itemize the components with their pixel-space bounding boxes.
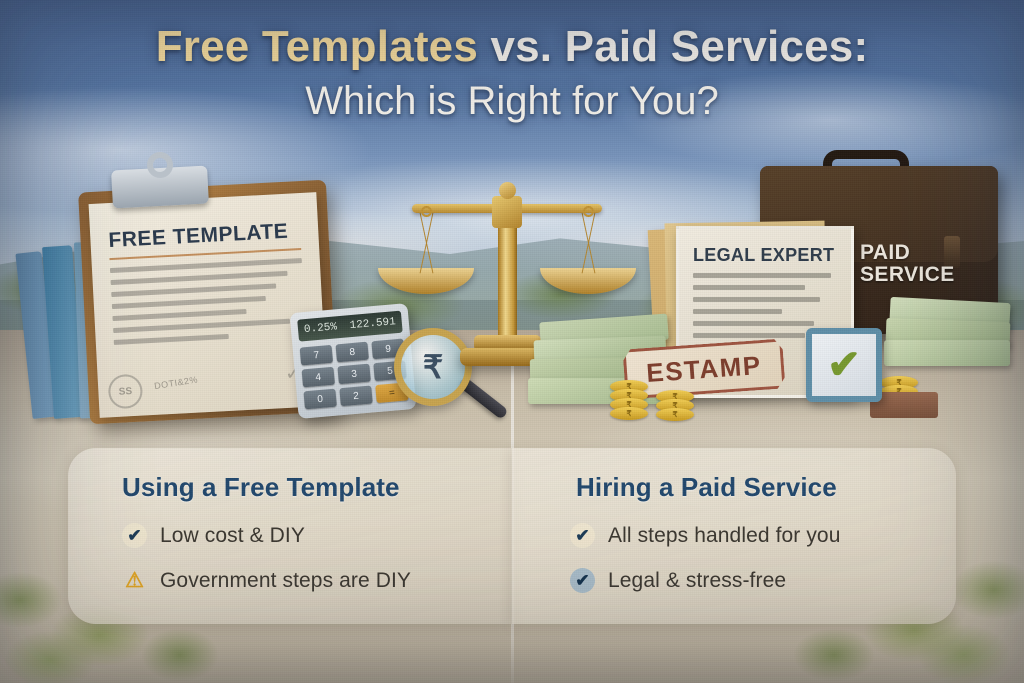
title-highlight: Free Templates [156,22,478,71]
document-text-line [112,309,246,321]
list-item-label: All steps handled for you [608,524,840,548]
scale-finial [499,182,516,199]
scale-head [492,196,522,228]
document-text-line [114,334,229,345]
document-text-line [111,271,288,285]
calculator-key: 4 [302,367,335,388]
document-text-line [112,296,266,309]
briefcase-label: PAID SERVICE [860,242,990,287]
benefit-list-free-template: ✔ Low cost & DIY ⚠ Government steps are … [122,523,512,593]
title-rest: vs. Paid Services: [478,22,868,71]
document-text-line [693,321,814,326]
panel-free-template: Using a Free Template ✔ Low cost & DIY ⚠… [68,448,512,624]
briefcase-label-line-2: SERVICE [860,264,990,286]
infographic-canvas: Free Templates vs. Paid Services: Which … [0,0,1024,683]
document-text-line [693,309,782,314]
document-text-line [693,273,831,278]
calculator-display-left: 0.25% [304,321,338,336]
green-check-icon: ✔ [827,345,861,385]
scale-column [498,220,517,340]
calculator-key: 3 [337,364,370,385]
warning-triangle-icon: ⚠ [122,568,147,593]
document-text-line [693,333,805,338]
free-template-document: FREE TEMPLATE SS DOTI&2% ✓ [89,192,328,418]
calculator-display: 0.25% 122.591 [297,311,403,342]
briefcase-label-line-1: PAID [860,242,990,264]
check-icon: ✔ [122,523,147,548]
title-line-2: Which is Right for You? [0,80,1024,122]
list-item-label: Government steps are DIY [160,569,411,593]
coin: ₹ [610,407,648,420]
document-text-line [111,283,276,297]
scale-hook [421,206,432,217]
check-icon: ✔ [570,568,595,593]
calculator-keypad: 7 8 9 4 3 5 0 2 = [300,339,409,410]
document-text-line [693,297,820,302]
document-stamp-text: DOTI&2% [154,374,199,391]
list-item-label: Low cost & DIY [160,524,305,548]
legal-expert-heading: LEGAL EXPERT [693,245,837,266]
free-template-heading: FREE TEMPLATE [108,219,301,253]
list-item-label: Legal & stress-free [608,569,786,593]
document-seal-icon: SS [108,374,144,410]
list-item: ✔ All steps handled for you [570,523,956,548]
document-text-line [693,285,805,290]
calculator-display-right: 122.591 [349,316,396,332]
coin: ₹ [656,408,694,421]
title-line-1: Free Templates vs. Paid Services: [0,24,1024,70]
title-block: Free Templates vs. Paid Services: Which … [0,24,1024,122]
list-item: ✔ Legal & stress-free [570,568,956,593]
scale-hook [583,206,594,217]
panel-heading-paid-service: Hiring a Paid Service [576,472,956,503]
verified-check-card: ✔ [806,328,882,402]
list-item: ⚠ Government steps are DIY [122,568,512,593]
panel-heading-free-template: Using a Free Template [122,472,512,503]
estamp-label: ESTAMP [645,350,762,389]
benefit-list-paid-service: ✔ All steps handled for you ✔ Legal & st… [570,523,956,593]
calculator-key: 2 [339,386,372,407]
document-text-line [113,319,290,333]
banknote [884,340,1010,366]
panel-paid-service: Hiring a Paid Service ✔ All steps handle… [512,448,956,624]
calculator-key: 0 [303,389,336,410]
calculator-key: 8 [335,342,368,363]
check-icon: ✔ [570,523,595,548]
list-item: ✔ Low cost & DIY [122,523,512,548]
calculator-key: 7 [300,345,333,366]
